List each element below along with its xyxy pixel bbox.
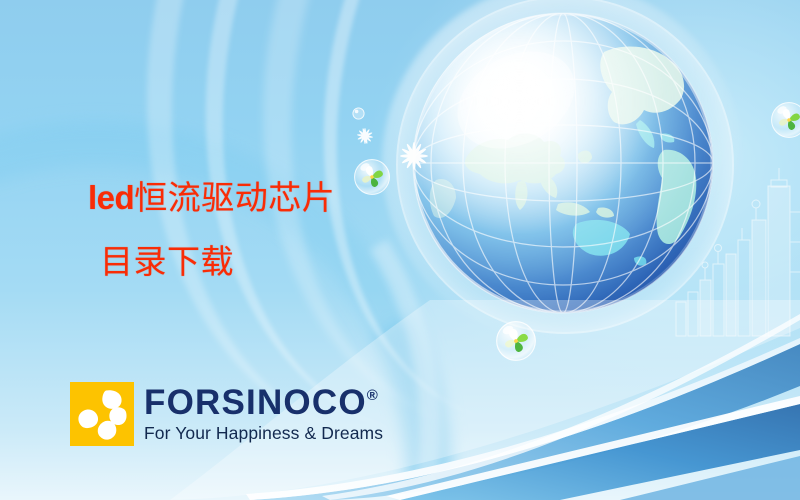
headline-latin-prefix: led xyxy=(88,179,134,216)
headline-line-2: 目录下载 xyxy=(88,230,335,294)
globe-outer-ring xyxy=(396,0,734,334)
pinwheel-bubble-icon xyxy=(770,101,800,139)
headline-cjk-part: 恒流驱动芯片 xyxy=(134,178,335,217)
registered-trademark-symbol: ® xyxy=(367,387,378,404)
logo-mark-square xyxy=(70,382,134,446)
flower-sparkle-icon xyxy=(354,125,376,147)
logo-brand-name: FORSINOCO xyxy=(144,383,367,422)
flower-sparkle-icon xyxy=(396,138,432,174)
headline-line-1: led恒流驱动芯片 xyxy=(88,178,335,217)
company-logo[interactable]: FORSINOCO® For Your Happiness & Dreams xyxy=(70,382,383,446)
globe-graphic xyxy=(408,8,718,318)
promotional-banner: led恒流驱动芯片 目录下载 FORSINOCO® For Your Happ xyxy=(0,0,800,500)
headline-text: led恒流驱动芯片 目录下载 xyxy=(88,166,335,295)
logo-text-block: FORSINOCO® For Your Happiness & Dreams xyxy=(144,385,383,443)
pinwheel-bubble-icon xyxy=(353,158,391,196)
logo-tagline: For Your Happiness & Dreams xyxy=(144,425,383,443)
small-bubble-icon xyxy=(352,107,365,120)
pinwheel-bubble-icon xyxy=(495,320,537,362)
logo-wordmark: FORSINOCO® xyxy=(144,385,383,420)
four-petal-flower-icon xyxy=(70,382,134,446)
